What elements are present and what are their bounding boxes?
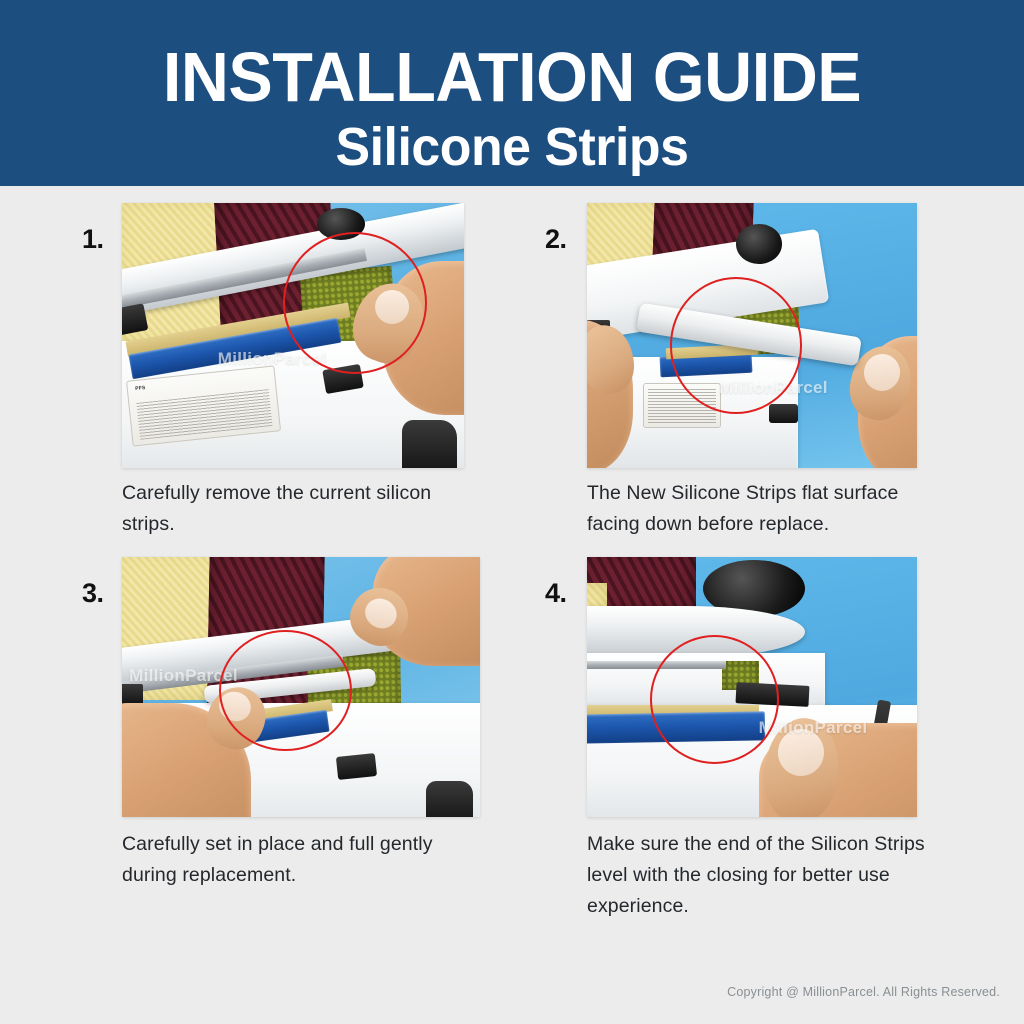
annotation-circle-1 bbox=[283, 232, 427, 374]
infographic-page: INSTALLATION GUIDE Silicone Strips 1. PF… bbox=[0, 0, 1024, 1024]
header-banner: INSTALLATION GUIDE Silicone Strips bbox=[0, 0, 1024, 186]
step-number-4: 4. bbox=[545, 578, 567, 609]
step-caption-3: Carefully set in place and full gently d… bbox=[122, 829, 477, 891]
page-title: INSTALLATION GUIDE bbox=[26, 42, 999, 112]
annotation-circle-3 bbox=[219, 630, 352, 751]
step-number-3: 3. bbox=[82, 578, 104, 609]
step-photo-4: MillionParcel bbox=[587, 557, 917, 817]
step-photo-2: MillionParcel bbox=[587, 203, 917, 468]
step-caption-2: The New Silicone Strips flat surface fac… bbox=[587, 478, 937, 540]
machine-label-model: PFS bbox=[135, 385, 146, 392]
footer-copyright: Copyright @ MillionParcel. All Rights Re… bbox=[727, 985, 1000, 999]
step-number-2: 2. bbox=[545, 224, 567, 255]
page-subtitle: Silicone Strips bbox=[20, 118, 1003, 176]
step-caption-4: Make sure the end of the Silicon Strips … bbox=[587, 829, 942, 922]
annotation-circle-2 bbox=[670, 277, 803, 414]
step-number-1: 1. bbox=[82, 224, 104, 255]
step-caption-1: Carefully remove the current silicon str… bbox=[122, 478, 467, 540]
annotation-circle-4 bbox=[650, 635, 779, 764]
step-photo-3: PFS MillionParcel bbox=[122, 557, 480, 817]
step-photo-1: PFS MillionParcel bbox=[122, 203, 464, 468]
